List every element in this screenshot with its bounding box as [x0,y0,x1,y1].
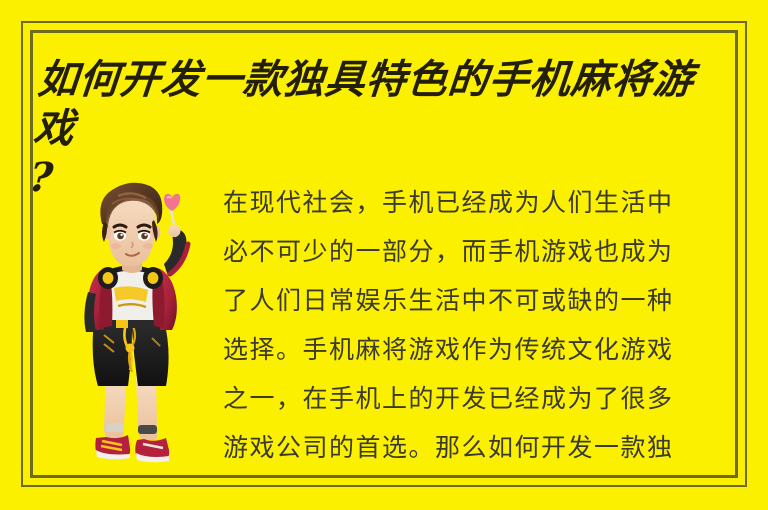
poster-canvas: 如何开发一款独具特色的手机麻将游戏 ? 在现代社会，手机已经成为人们生活中必不可… [0,0,768,510]
character-lollipop [164,194,181,237]
character-head [100,183,162,267]
article-body-text: 在现代社会，手机已经成为人们生活中必不可少的一部分，而手机游戏也成为了人们日常娱… [223,178,697,470]
young-man-character-illustration [60,180,200,468]
character-shorts [93,320,169,386]
character-shoes [95,435,169,462]
